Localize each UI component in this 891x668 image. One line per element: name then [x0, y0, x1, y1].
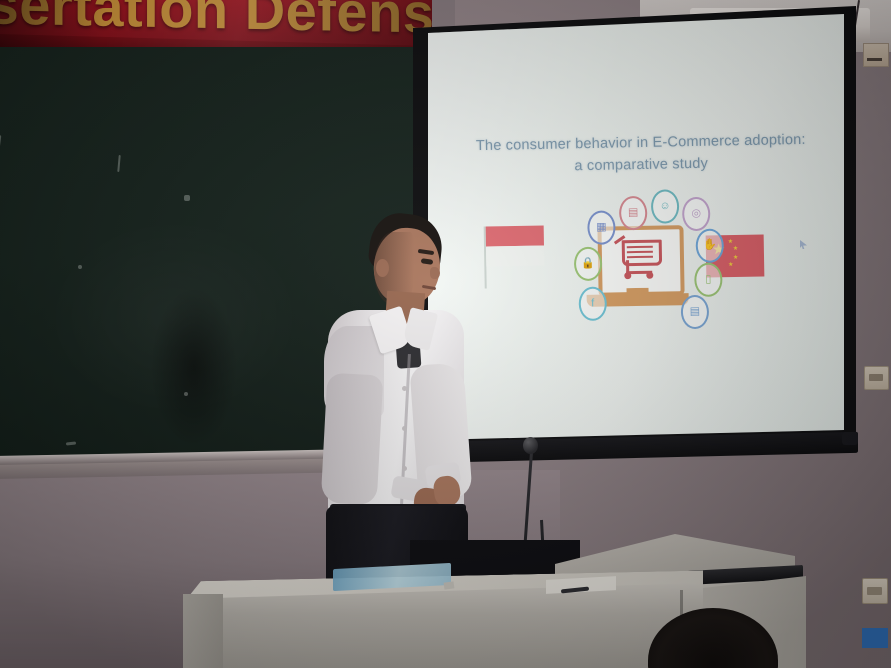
- flag-star-small: ★: [733, 255, 738, 261]
- chalk-mark: [0, 135, 1, 157]
- wall-outlet-lower[interactable]: [862, 578, 888, 604]
- chalk-mark: [117, 155, 120, 172]
- screen-pull-knob[interactable]: [842, 432, 858, 445]
- shopping-cart-icon: [614, 238, 663, 279]
- chalk-mark: [78, 265, 82, 269]
- classroom-photo: ssertation Defense The consumer behavior…: [0, 0, 891, 668]
- outlet-slot: [869, 374, 883, 381]
- presenter-ear: [376, 259, 389, 277]
- icon-glyph: ◎: [691, 208, 701, 219]
- chalk-mark: [184, 195, 190, 201]
- icon-glyph: ☺: [659, 201, 670, 212]
- desk-left-face: [183, 594, 223, 668]
- flag-star-small: ★: [728, 262, 733, 268]
- indonesia-flag: [486, 225, 545, 266]
- small-desk-object: [444, 581, 455, 589]
- chalk-mark: [184, 392, 188, 396]
- icon-glyph: ✋: [703, 240, 717, 251]
- flag-stripe-red: [486, 225, 544, 246]
- cart-line: [627, 251, 653, 253]
- icon-glyph: ▯: [705, 274, 711, 285]
- flag-star-small: ★: [733, 246, 738, 252]
- wall-sign-bar: [867, 58, 882, 61]
- flag-star-small: ★: [728, 239, 733, 245]
- projection-screen: The consumer behavior in E-Commerce adop…: [428, 14, 844, 440]
- icon-glyph: ▦: [596, 222, 607, 233]
- icon-glyph: 🔒: [581, 258, 595, 269]
- presenter-nose: [430, 267, 440, 279]
- shirt-button: [402, 466, 407, 471]
- outlet-slot: [867, 587, 882, 595]
- wall-sign-plate: [863, 43, 889, 67]
- banner-text: ssertation Defense: [0, 0, 432, 46]
- microphone-head-icon: [523, 437, 538, 454]
- blue-wall-object: [862, 628, 888, 648]
- user-support-icon: ☺: [651, 189, 680, 223]
- shirt-button: [402, 426, 407, 431]
- slide-title: The consumer behavior in E-Commerce adop…: [462, 129, 821, 181]
- ecommerce-graphic: ▤ ☺ ◎ ✋ ▯ ▤ ▦ 🔒 f: [567, 193, 709, 325]
- icon-glyph: f: [591, 298, 594, 309]
- cart-line: [627, 256, 653, 258]
- icon-glyph: ▤: [690, 306, 701, 317]
- icon-glyph: ▤: [628, 207, 639, 218]
- presenter-shadow: [144, 262, 244, 472]
- chalk-mark: [66, 441, 76, 445]
- cart-line: [627, 246, 653, 248]
- flag-stripe-white: [486, 245, 544, 266]
- presenter: [318, 214, 488, 594]
- shirt-button: [402, 386, 407, 391]
- facebook-icon: f: [578, 287, 607, 321]
- cart-wheel: [646, 272, 653, 279]
- presenter-left-arm: [321, 373, 384, 506]
- wall-outlet-upper[interactable]: [864, 366, 889, 390]
- coins-icon: ◎: [682, 197, 711, 231]
